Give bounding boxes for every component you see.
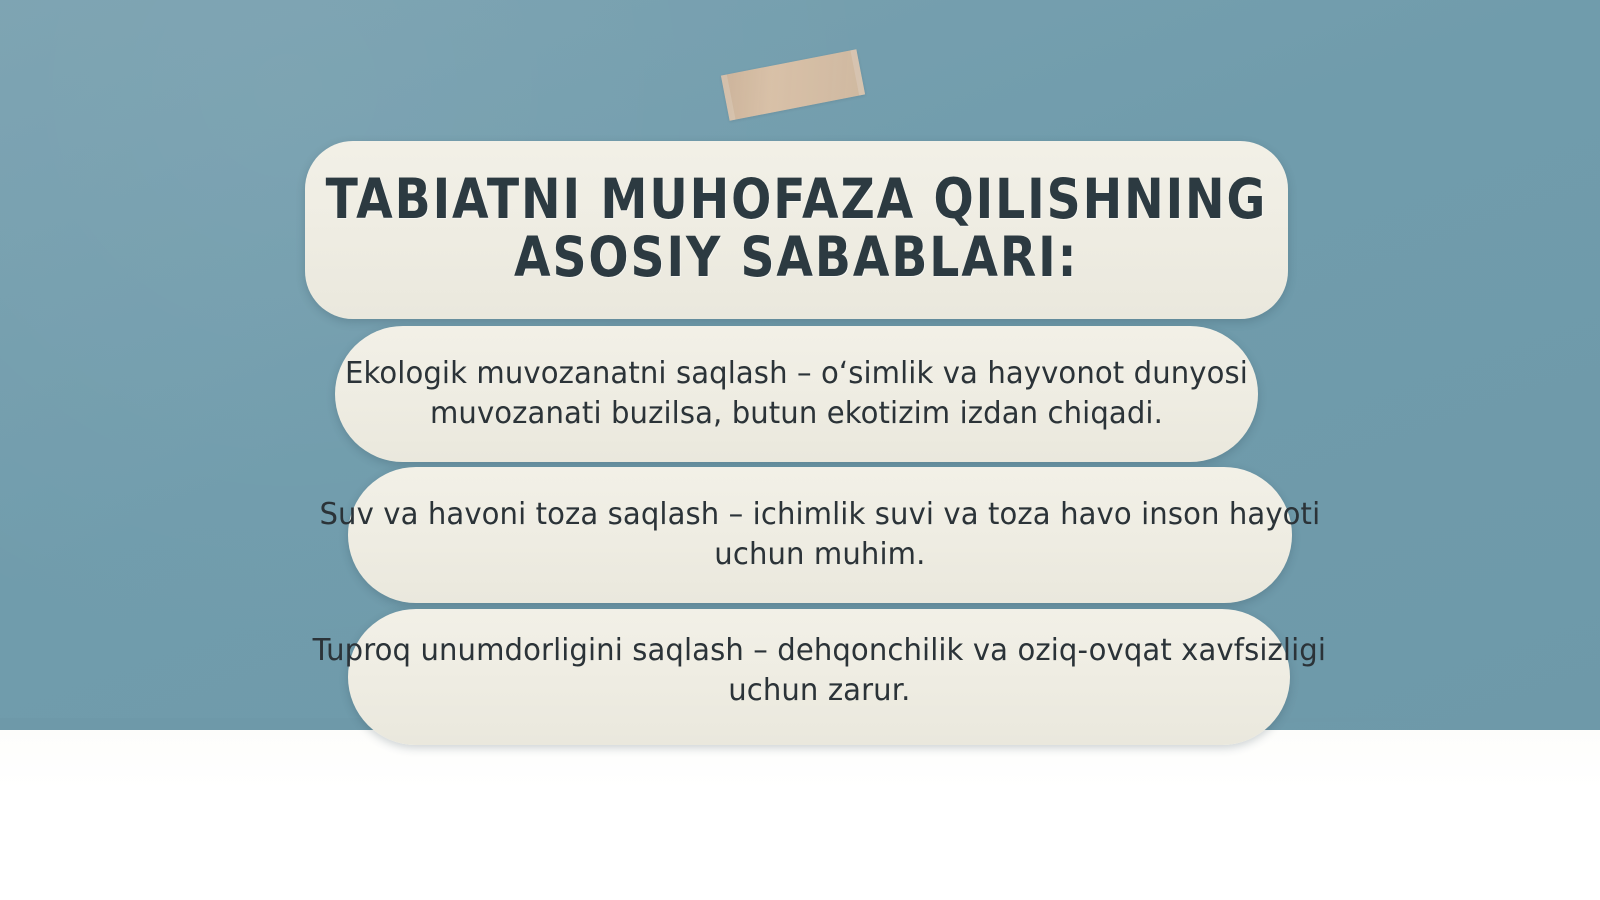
slide-canvas: TABIATNI MUHOFAZA QILISHNING ASOSIY SABA… bbox=[0, 0, 1600, 900]
reason-card-1: Ekologik muvozanatni saqlash – o‘simlik … bbox=[335, 326, 1258, 462]
reason-2-line-2: uchun muhim. bbox=[320, 535, 1321, 575]
reason-text-1: Ekologik muvozanatni saqlash – o‘simlik … bbox=[345, 354, 1248, 433]
white-bottom-band bbox=[0, 730, 1600, 900]
reason-3-line-1: Tuproq unumdorligini saqlash – dehqonchi… bbox=[312, 631, 1325, 671]
page-title-line-2: ASOSIY SABABLARI: bbox=[514, 228, 1079, 286]
reason-text-3: Tuproq unumdorligini saqlash – dehqonchi… bbox=[312, 631, 1325, 710]
reason-text-2: Suv va havoni toza saqlash – ichimlik su… bbox=[320, 495, 1321, 574]
reason-card-3: Tuproq unumdorligini saqlash – dehqonchi… bbox=[348, 609, 1290, 745]
reason-card-2: Suv va havoni toza saqlash – ichimlik su… bbox=[348, 467, 1292, 603]
reason-1-line-1: Ekologik muvozanatni saqlash – o‘simlik … bbox=[345, 354, 1248, 394]
reason-3-line-2: uchun zarur. bbox=[312, 671, 1325, 711]
reason-1-line-2: muvozanati buzilsa, butun ekotizim izdan… bbox=[345, 394, 1248, 434]
title-card: TABIATNI MUHOFAZA QILISHNING ASOSIY SABA… bbox=[305, 141, 1288, 319]
page-title-line-1: TABIATNI MUHOFAZA QILISHNING bbox=[326, 170, 1268, 228]
reason-2-line-1: Suv va havoni toza saqlash – ichimlik su… bbox=[320, 495, 1321, 535]
